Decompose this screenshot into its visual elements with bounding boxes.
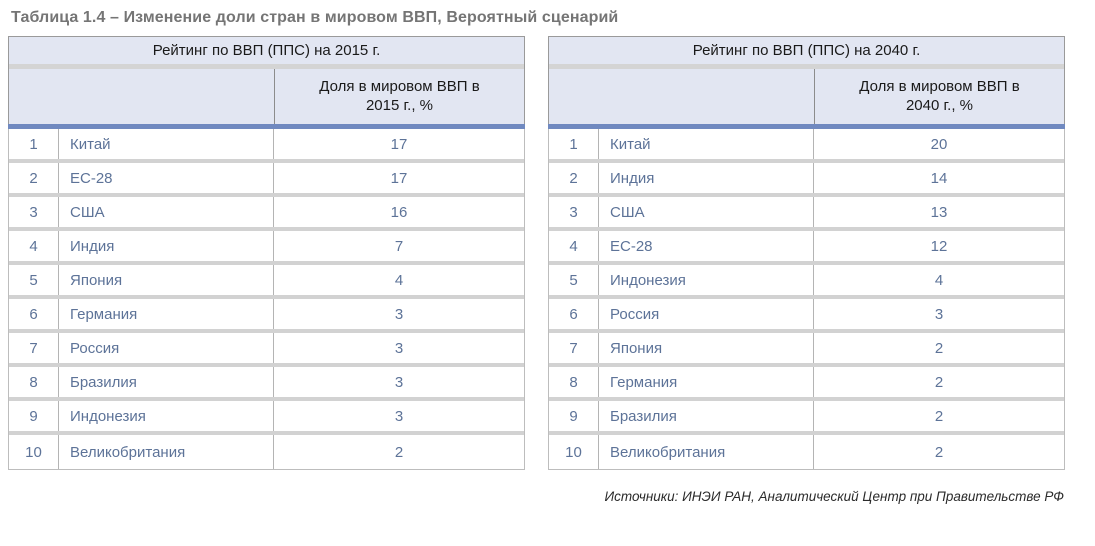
table-row: 1Китай20	[549, 129, 1064, 163]
cell-share-percent: 16	[274, 197, 524, 227]
table-header-2040: Рейтинг по ВВП (ППС) на 2040 г. Доля в м…	[548, 36, 1065, 124]
cell-rank: 2	[549, 163, 599, 193]
cell-rank: 1	[549, 129, 599, 159]
cell-country: Индонезия	[59, 401, 274, 431]
table-row: 7Россия3	[9, 333, 524, 367]
cell-country: Бразилия	[59, 367, 274, 397]
cell-rank: 6	[9, 299, 59, 329]
cell-rank: 5	[9, 265, 59, 295]
table-caption-2015: Рейтинг по ВВП (ППС) на 2015 г.	[9, 37, 524, 64]
cell-rank: 3	[9, 197, 59, 227]
cell-rank: 10	[549, 435, 599, 469]
cell-share-percent: 13	[814, 197, 1064, 227]
cell-country: Великобритания	[59, 435, 274, 469]
table-row: 3США16	[9, 197, 524, 231]
cell-rank: 1	[9, 129, 59, 159]
cell-rank: 8	[549, 367, 599, 397]
cell-country: ЕС-28	[599, 231, 814, 261]
table-gdp-2040: Рейтинг по ВВП (ППС) на 2040 г. Доля в м…	[548, 36, 1065, 470]
cell-share-percent: 14	[814, 163, 1064, 193]
cell-share-percent: 4	[274, 265, 524, 295]
cell-rank: 2	[9, 163, 59, 193]
cell-rank: 4	[9, 231, 59, 261]
cell-country: Индия	[599, 163, 814, 193]
cell-share-percent: 3	[274, 367, 524, 397]
cell-rank: 7	[549, 333, 599, 363]
share-header-line2: 2015 г., %	[366, 97, 433, 114]
cell-share-percent: 2	[814, 401, 1064, 431]
cell-country: Германия	[599, 367, 814, 397]
cell-rank: 8	[9, 367, 59, 397]
share-header-line2: 2040 г., %	[906, 97, 973, 114]
cell-country: Китай	[59, 129, 274, 159]
cell-rank: 7	[9, 333, 59, 363]
table-row: 2Индия14	[549, 163, 1064, 197]
page-title: Таблица 1.4 – Изменение доли стран в мир…	[11, 9, 618, 27]
cell-rank: 4	[549, 231, 599, 261]
table-row: 7Япония2	[549, 333, 1064, 367]
cell-share-percent: 3	[274, 299, 524, 329]
table-row: 3США13	[549, 197, 1064, 231]
table-row: 8Германия2	[549, 367, 1064, 401]
cell-share-percent: 3	[274, 333, 524, 363]
table-header-2015: Рейтинг по ВВП (ППС) на 2015 г. Доля в м…	[8, 36, 525, 124]
cell-country: США	[599, 197, 814, 227]
cell-country: Россия	[599, 299, 814, 329]
cell-country: Китай	[599, 129, 814, 159]
table-caption-2040: Рейтинг по ВВП (ППС) на 2040 г.	[549, 37, 1064, 64]
cell-share-percent: 17	[274, 129, 524, 159]
table-gdp-2015: Рейтинг по ВВП (ППС) на 2015 г. Доля в м…	[8, 36, 525, 470]
table-subheader-2040: Доля в мировом ВВП в 2040 г., %	[549, 69, 1064, 124]
cell-share-percent: 20	[814, 129, 1064, 159]
cell-share-percent: 3	[814, 299, 1064, 329]
subheader-blank-cell	[9, 69, 275, 124]
cell-country: Индия	[59, 231, 274, 261]
table-row: 1Китай17	[9, 129, 524, 163]
table-row: 10Великобритания2	[9, 435, 524, 469]
table-row: 5Япония4	[9, 265, 524, 299]
share-header-line1: Доля в мировом ВВП в	[319, 78, 479, 95]
cell-country: Россия	[59, 333, 274, 363]
cell-country: Бразилия	[599, 401, 814, 431]
cell-rank: 6	[549, 299, 599, 329]
cell-rank: 9	[549, 401, 599, 431]
table-subheader-2015: Доля в мировом ВВП в 2015 г., %	[9, 69, 524, 124]
cell-country: США	[59, 197, 274, 227]
table-row: 9Индонезия3	[9, 401, 524, 435]
table-row: 8Бразилия3	[9, 367, 524, 401]
table-row: 4ЕС-2812	[549, 231, 1064, 265]
table-row: 2ЕС-2817	[9, 163, 524, 197]
cell-country: Япония	[599, 333, 814, 363]
share-header-line1: Доля в мировом ВВП в	[859, 78, 1019, 95]
table-body-2040: 1Китай202Индия143США134ЕС-28125Индонезия…	[548, 129, 1065, 470]
table-row: 5Индонезия4	[549, 265, 1064, 299]
cell-share-percent: 2	[814, 435, 1064, 469]
cell-country: Индонезия	[599, 265, 814, 295]
cell-share-percent: 2	[814, 367, 1064, 397]
cell-country: Великобритания	[599, 435, 814, 469]
cell-rank: 10	[9, 435, 59, 469]
table-row: 9Бразилия2	[549, 401, 1064, 435]
cell-share-percent: 7	[274, 231, 524, 261]
cell-share-percent: 12	[814, 231, 1064, 261]
table-row: 4Индия7	[9, 231, 524, 265]
subheader-blank-cell	[549, 69, 815, 124]
cell-share-percent: 3	[274, 401, 524, 431]
table-row: 10Великобритания2	[549, 435, 1064, 469]
cell-country: ЕС-28	[59, 163, 274, 193]
cell-rank: 9	[9, 401, 59, 431]
cell-share-percent: 2	[814, 333, 1064, 363]
cell-share-percent: 2	[274, 435, 524, 469]
cell-rank: 3	[549, 197, 599, 227]
source-note: Источники: ИНЭИ РАН, Аналитический Центр…	[604, 489, 1064, 504]
table-row: 6Германия3	[9, 299, 524, 333]
cell-rank: 5	[549, 265, 599, 295]
cell-share-percent: 4	[814, 265, 1064, 295]
subheader-share-2040: Доля в мировом ВВП в 2040 г., %	[815, 69, 1064, 124]
table-row: 6Россия3	[549, 299, 1064, 333]
table-body-2015: 1Китай172ЕС-28173США164Индия75Япония46Ге…	[8, 129, 525, 470]
cell-country: Япония	[59, 265, 274, 295]
cell-country: Германия	[59, 299, 274, 329]
cell-share-percent: 17	[274, 163, 524, 193]
subheader-share-2015: Доля в мировом ВВП в 2015 г., %	[275, 69, 524, 124]
